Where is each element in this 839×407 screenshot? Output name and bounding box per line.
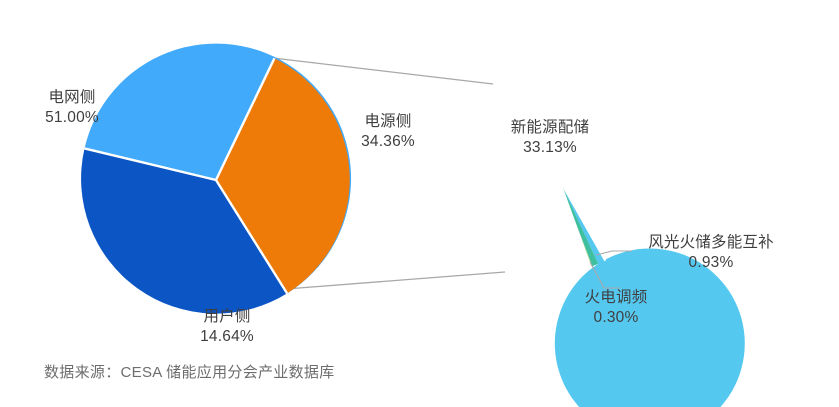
main-pie bbox=[81, 44, 351, 314]
label-user-side-name: 用户侧 bbox=[172, 307, 282, 327]
label-thermal-freq: 火电调频 0.30% bbox=[555, 288, 677, 328]
label-power-side: 电源侧 34.36% bbox=[333, 112, 443, 152]
label-power-side-value: 34.36% bbox=[333, 132, 443, 152]
chart-canvas bbox=[0, 0, 839, 407]
label-renewable-storage-name: 新能源配储 bbox=[484, 118, 616, 138]
label-multi-energy: 风光火储多能互补 0.93% bbox=[631, 233, 791, 273]
label-renewable-storage: 新能源配储 33.13% bbox=[484, 118, 616, 158]
label-grid-side-name: 电网侧 bbox=[12, 88, 132, 108]
label-power-side-name: 电源侧 bbox=[333, 112, 443, 132]
label-renewable-storage-value: 33.13% bbox=[484, 138, 616, 158]
label-thermal-freq-value: 0.30% bbox=[555, 308, 677, 328]
label-user-side-value: 14.64% bbox=[172, 327, 282, 347]
label-multi-energy-name: 风光火储多能互补 bbox=[631, 233, 791, 253]
label-user-side: 用户侧 14.64% bbox=[172, 307, 282, 347]
label-thermal-freq-name: 火电调频 bbox=[555, 288, 677, 308]
pie-slice-multi-energy[interactable] bbox=[558, 177, 598, 266]
label-multi-energy-value: 0.93% bbox=[631, 253, 791, 273]
connector-line-bottom bbox=[286, 272, 505, 289]
data-source-note: 数据来源：CESA 储能应用分会产业数据库 bbox=[44, 361, 335, 382]
label-grid-side: 电网侧 51.00% bbox=[12, 88, 132, 128]
pie-chart-figure: 电网侧 51.00% 电源侧 34.36% 用户侧 14.64% 新能源配储 3… bbox=[0, 0, 839, 407]
label-grid-side-value: 51.00% bbox=[12, 108, 132, 128]
